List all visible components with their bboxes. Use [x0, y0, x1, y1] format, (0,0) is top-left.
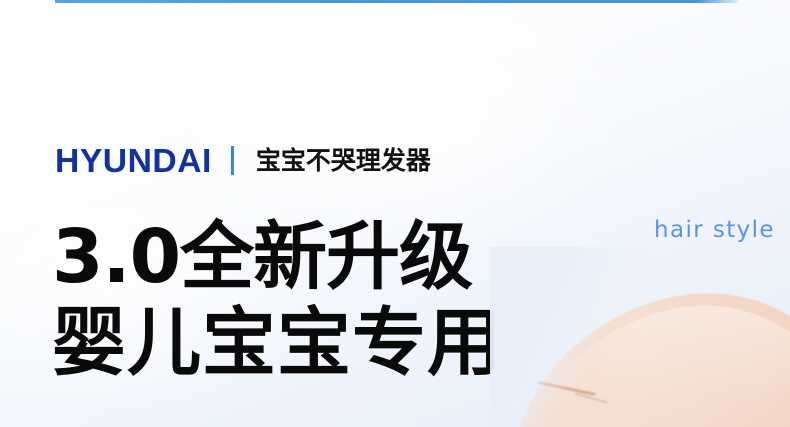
- hyundai-logo-wordmark: HYUNDAI: [55, 144, 212, 177]
- top-accent-rule: [55, 0, 738, 3]
- brand-divider: [231, 146, 234, 175]
- hair-style-script-text: hair style: [654, 217, 775, 243]
- hand-photo-crease-secondary: [574, 392, 607, 403]
- brand-row: HYUNDAI 宝宝不哭理发器: [55, 141, 431, 179]
- headline-line-1: 3.0全新升级: [52, 214, 572, 300]
- headline-line-2: 婴儿宝宝专用: [52, 300, 572, 386]
- headline-block: 3.0全新升级 婴儿宝宝专用: [52, 214, 572, 386]
- brand-tagline: 宝宝不哭理发器: [256, 148, 431, 173]
- product-banner: HYUNDAI 宝宝不哭理发器 3.0全新升级 婴儿宝宝专用 hair styl…: [0, 0, 790, 427]
